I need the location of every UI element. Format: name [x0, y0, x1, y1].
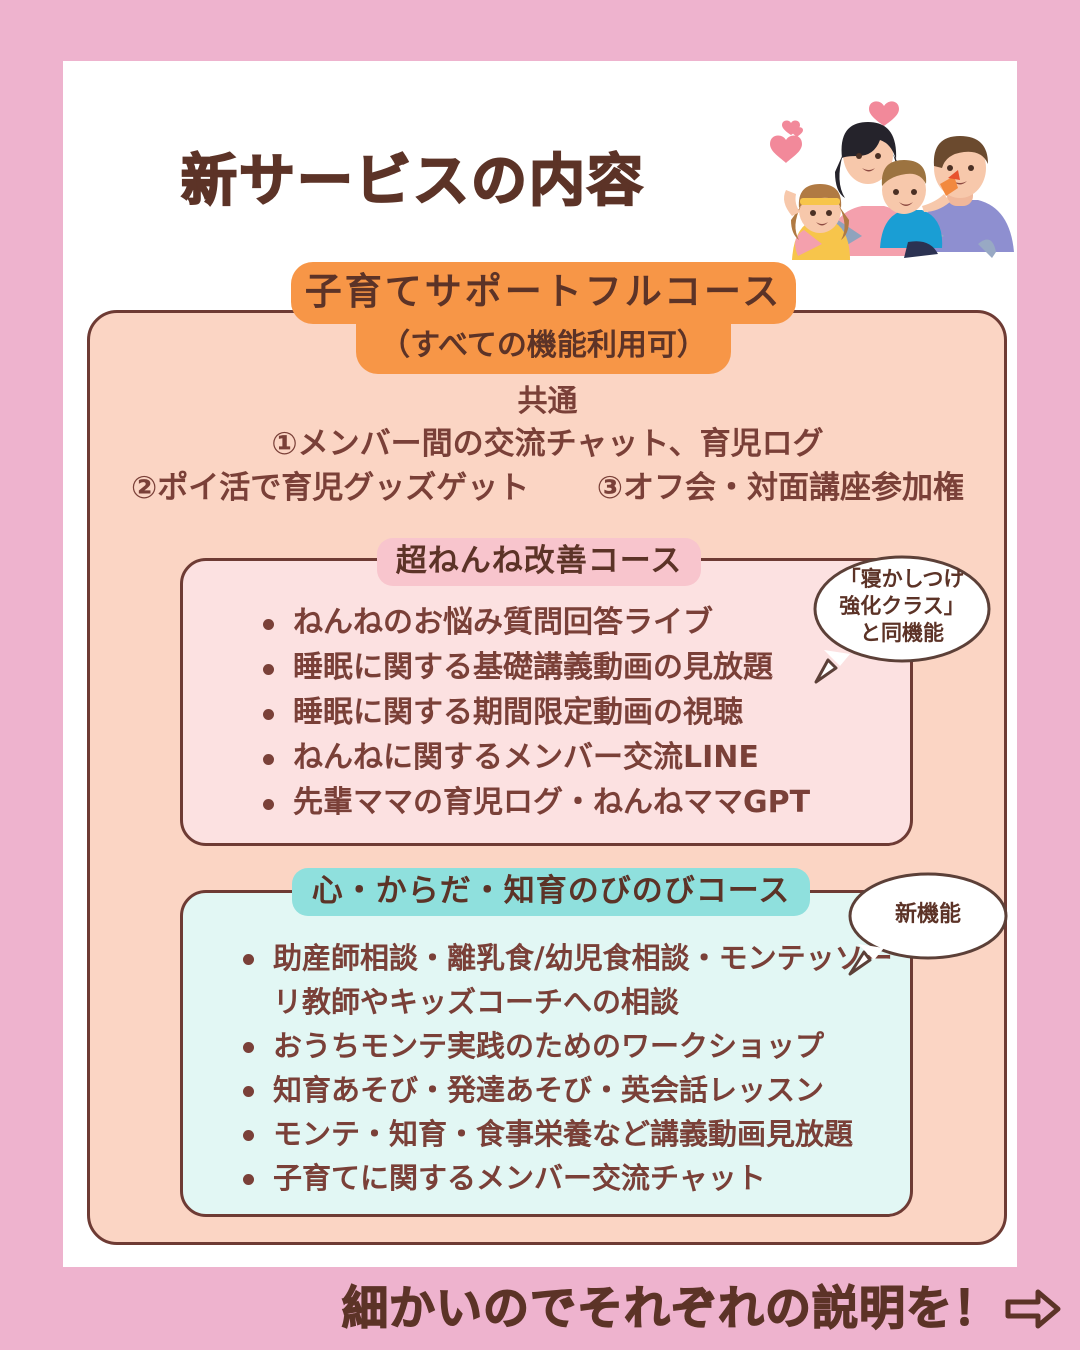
full-course-banner: 子育てサポートフルコース （すべての機能利用可） [291, 262, 796, 374]
list-item: モンテ・知育・食事栄養など講義動画見放題 [235, 1112, 895, 1156]
right-arrow-icon [1004, 1287, 1062, 1341]
list-item: 睡眠に関する基礎講義動画の見放題 [255, 645, 875, 690]
bubble-line-3: と同機能 [806, 620, 998, 647]
speech-bubble-nobinobi: 新機能 [842, 868, 1014, 974]
full-course-banner-subtitle: （すべての機能利用可） [356, 322, 731, 374]
list-item: 子育てに関するメンバー交流チャット [235, 1156, 895, 1200]
family-illustration [762, 82, 1014, 264]
speech-bubble-nenne-text: 「寝かしつけ 強化クラス」 と同機能 [806, 566, 998, 647]
course-list-nenne: ねんねのお悩み質問回答ライブ 睡眠に関する基礎講義動画の見放題 睡眠に関する期間… [255, 600, 875, 825]
footer-caption-text: 細かいのでそれぞれの説明を！ [342, 1281, 1000, 1335]
common-item-1: ①メンバー間の交流チャット、育児ログ [95, 422, 1000, 466]
page-frame: 新サービスの内容 [0, 0, 1080, 1350]
common-item-row-2: ②ポイ活で育児グッズゲット ③オフ会・対面講座参加権 [95, 466, 1000, 510]
footer-caption: 細かいのでそれぞれの説明を！ [0, 1272, 1080, 1341]
page-title: 新サービスの内容 [63, 136, 763, 217]
speech-bubble-nenne: 「寝かしつけ 強化クラス」 と同機能 [806, 550, 998, 682]
common-item-2: ②ポイ活で育児グッズゲット [131, 470, 529, 506]
course-badge-nobinobi: 心・からだ・知育のびのびコース [292, 868, 810, 916]
list-item: 知育あそび・発達あそび・英会話レッスン [235, 1068, 895, 1112]
common-heading: 共通 [95, 382, 1000, 422]
bubble-line-2: 強化クラス」 [806, 593, 998, 620]
list-item: 助産師相談・離乳食/幼児食相談・モンテッソーリ教師やキッズコーチへの相談 [235, 936, 895, 1024]
bubble-line-1: 「寝かしつけ [806, 566, 998, 593]
speech-bubble-nobinobi-text: 新機能 [842, 896, 1014, 928]
full-course-banner-title: 子育てサポートフルコース [291, 262, 796, 324]
common-item-3: ③オフ会・対面講座参加権 [597, 470, 964, 506]
list-item: ねんねのお悩み質問回答ライブ [255, 600, 875, 645]
list-item: 先輩ママの育児ログ・ねんねママGPT [255, 780, 875, 825]
list-item: 睡眠に関する期間限定動画の視聴 [255, 690, 875, 735]
course-badge-nenne: 超ねんね改善コース [377, 538, 701, 586]
list-item: ねんねに関するメンバー交流LINE [255, 735, 875, 780]
course-list-nobinobi: 助産師相談・離乳食/幼児食相談・モンテッソーリ教師やキッズコーチへの相談 おうち… [235, 936, 895, 1200]
list-item: おうちモンテ実践のためのワークショップ [235, 1024, 895, 1068]
common-features-block: 共通 ①メンバー間の交流チャット、育児ログ ②ポイ活で育児グッズゲット ③オフ会… [95, 382, 1000, 510]
